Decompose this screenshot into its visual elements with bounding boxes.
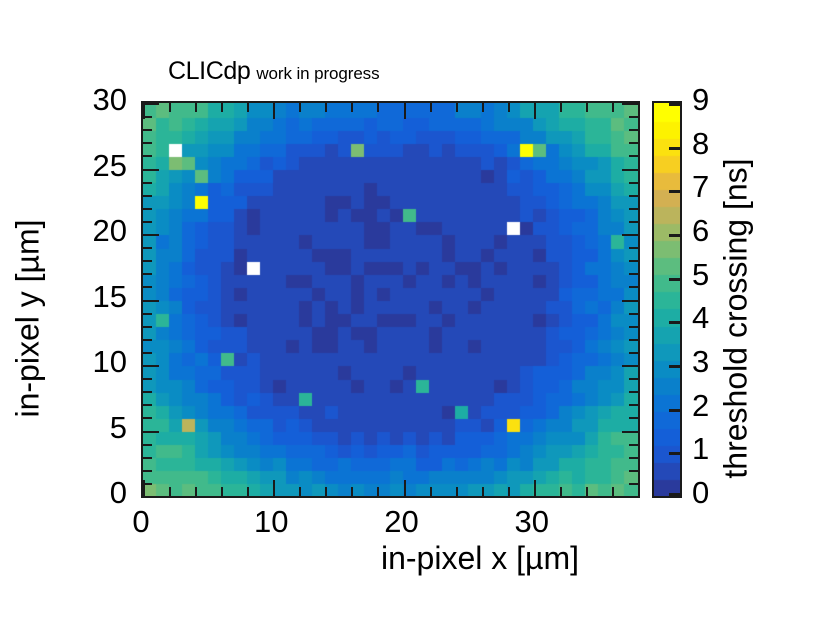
y-minor-tick (143, 260, 152, 262)
y-minor-tick (629, 286, 638, 288)
x-minor-tick (247, 487, 249, 496)
colorbar-tick-label: 4 (692, 302, 709, 333)
x-minor-tick (351, 487, 353, 496)
y-minor-tick (143, 313, 152, 315)
colorbar-tick-label: 2 (692, 390, 709, 421)
x-minor-tick (612, 487, 614, 496)
x-major-tick (273, 103, 275, 119)
heatmap-frame (141, 101, 640, 498)
x-minor-tick (247, 103, 249, 112)
y-minor-tick (143, 195, 152, 197)
y-tick-label: 30 (43, 84, 127, 115)
y-minor-tick (143, 286, 152, 288)
colorbar-tick (669, 103, 680, 106)
y-minor-tick (629, 260, 638, 262)
y-minor-tick (143, 273, 152, 275)
y-minor-tick (143, 339, 152, 341)
x-minor-tick (638, 103, 640, 112)
x-minor-tick (560, 487, 562, 496)
y-minor-tick (143, 470, 152, 472)
colorbar-tick-label: 1 (692, 433, 709, 464)
x-minor-tick (456, 487, 458, 496)
y-minor-tick (143, 457, 152, 459)
y-minor-tick (629, 273, 638, 275)
y-minor-tick (629, 221, 638, 223)
colorbar (652, 101, 682, 498)
y-minor-tick (629, 313, 638, 315)
plot-canvas: CLICdpwork in progress 0102030 051015202… (0, 0, 822, 637)
y-minor-tick (629, 404, 638, 406)
x-tick-label: 20 (362, 506, 442, 537)
y-major-tick (622, 496, 638, 498)
y-minor-tick (629, 444, 638, 446)
y-minor-tick (629, 326, 638, 328)
x-minor-tick (612, 103, 614, 112)
y-minor-tick (629, 247, 638, 249)
x-minor-tick (482, 103, 484, 112)
y-major-tick (143, 169, 159, 171)
y-minor-tick (629, 457, 638, 459)
y-minor-tick (629, 470, 638, 472)
colorbar-tick (669, 452, 680, 455)
y-minor-tick (629, 142, 638, 144)
colorbar-tick-label: 5 (692, 259, 709, 290)
colorbar-tick-label: 8 (692, 128, 709, 159)
y-minor-tick (143, 378, 152, 380)
y-minor-tick (143, 182, 152, 184)
colorbar-tick-label: 7 (692, 171, 709, 202)
y-minor-tick (629, 378, 638, 380)
y-minor-tick (629, 195, 638, 197)
x-major-tick (534, 480, 536, 496)
x-minor-tick (430, 487, 432, 496)
x-minor-tick (377, 487, 379, 496)
colorbar-tick (669, 278, 680, 281)
x-minor-tick (482, 487, 484, 496)
y-major-tick (143, 496, 159, 498)
colorbar-tick (669, 409, 680, 412)
y-minor-tick (143, 417, 152, 419)
x-minor-tick (221, 103, 223, 112)
y-major-tick (143, 431, 159, 433)
x-tick-label: 30 (492, 506, 572, 537)
colorbar-tick (669, 190, 680, 193)
y-minor-tick (629, 155, 638, 157)
colorbar-tick (669, 365, 680, 368)
y-minor-tick (629, 182, 638, 184)
y-minor-tick (629, 116, 638, 118)
x-minor-tick (508, 103, 510, 112)
x-minor-tick (377, 103, 379, 112)
x-major-tick (534, 103, 536, 119)
x-minor-tick (430, 103, 432, 112)
x-minor-tick (586, 103, 588, 112)
colorbar-tick-label: 3 (692, 346, 709, 377)
x-minor-tick (299, 487, 301, 496)
x-minor-tick (299, 103, 301, 112)
y-minor-tick (629, 391, 638, 393)
y-major-tick (622, 365, 638, 367)
colorbar-tick (669, 321, 680, 324)
y-minor-tick (143, 352, 152, 354)
x-minor-tick (508, 487, 510, 496)
x-minor-tick (638, 487, 640, 496)
y-minor-tick (143, 404, 152, 406)
colorbar-tick-label: 0 (692, 477, 709, 508)
y-minor-tick (629, 129, 638, 131)
x-minor-tick (351, 103, 353, 112)
x-major-tick (404, 480, 406, 496)
x-minor-tick (195, 487, 197, 496)
y-minor-tick (143, 155, 152, 157)
y-minor-tick (143, 247, 152, 249)
x-minor-tick (221, 487, 223, 496)
y-major-tick (622, 300, 638, 302)
x-minor-tick (560, 103, 562, 112)
y-tick-label: 10 (43, 346, 127, 377)
y-major-tick (622, 169, 638, 171)
y-minor-tick (143, 116, 152, 118)
y-minor-tick (629, 483, 638, 485)
y-tick-label: 15 (43, 281, 127, 312)
x-minor-tick (169, 487, 171, 496)
y-major-tick (143, 365, 159, 367)
x-tick-label: 10 (231, 506, 311, 537)
y-axis-title: in-pixel y [µm] (10, 119, 47, 519)
colorbar-tick (669, 234, 680, 237)
y-major-tick (622, 234, 638, 236)
y-major-tick (143, 300, 159, 302)
x-minor-tick (456, 103, 458, 112)
x-minor-tick (325, 487, 327, 496)
y-minor-tick (143, 444, 152, 446)
x-major-tick (404, 103, 406, 119)
colorbar-tick-label: 9 (692, 84, 709, 115)
y-tick-label: 25 (43, 150, 127, 181)
colorbar-tick (669, 147, 680, 150)
y-tick-label: 5 (43, 412, 127, 443)
y-minor-tick (143, 221, 152, 223)
colorbar-gradient (654, 103, 680, 496)
y-minor-tick (143, 483, 152, 485)
y-tick-label: 20 (43, 215, 127, 246)
y-minor-tick (629, 352, 638, 354)
colorbar-tick (669, 493, 680, 496)
collaboration-label: CLICdp (168, 57, 250, 85)
colorbar-title: threshold crossing [ns] (718, 119, 755, 519)
y-minor-tick (629, 208, 638, 210)
x-minor-tick (325, 103, 327, 112)
x-minor-tick (195, 103, 197, 112)
y-minor-tick (629, 339, 638, 341)
x-minor-tick (169, 103, 171, 112)
y-tick-label: 0 (43, 477, 127, 508)
y-major-tick (143, 103, 159, 105)
y-major-tick (143, 234, 159, 236)
y-minor-tick (143, 326, 152, 328)
x-major-tick (273, 480, 275, 496)
x-tick-label: 0 (101, 506, 181, 537)
y-minor-tick (143, 142, 152, 144)
x-minor-tick (586, 487, 588, 496)
heatmap-image (143, 103, 638, 496)
y-minor-tick (629, 417, 638, 419)
y-minor-tick (143, 129, 152, 131)
colorbar-tick-label: 6 (692, 215, 709, 246)
plot-title: CLICdpwork in progress (168, 57, 380, 86)
status-label: work in progress (256, 64, 379, 83)
y-minor-tick (143, 391, 152, 393)
y-major-tick (622, 431, 638, 433)
y-major-tick (622, 103, 638, 105)
x-axis-title: in-pixel x [µm] (240, 540, 720, 577)
y-minor-tick (143, 208, 152, 210)
